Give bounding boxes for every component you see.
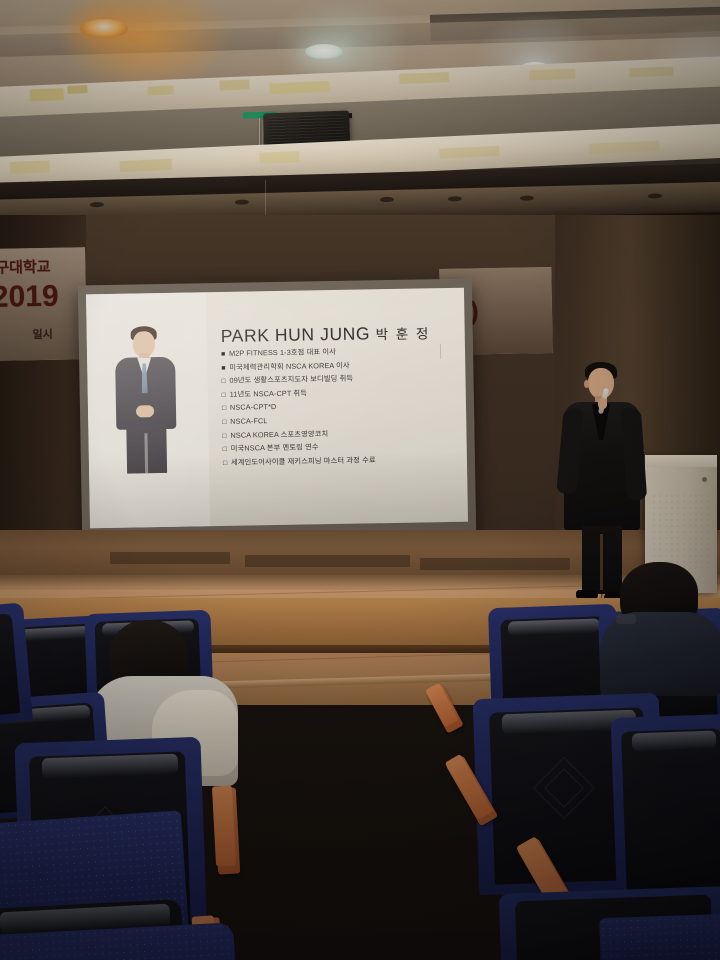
bullet-text: 미국체력관리학회 NSCA KOREA 이사 [229, 360, 350, 371]
slide-text-block: PARK HUN JUNG 박 훈 정 ■M2P FITNESS 1-3호점 대… [206, 288, 468, 526]
bullet-text: 세계인도어사이클 재키스피닝 마스터 과정 수료 [231, 455, 376, 467]
photo-hands [136, 405, 154, 417]
presenter-ear [584, 380, 589, 388]
audience-seating [0, 600, 720, 960]
seat [0, 606, 30, 726]
presenter-head [588, 368, 614, 399]
seat-armrest-top [425, 683, 459, 728]
ceiling [0, 0, 720, 190]
bullet-marker: □ [222, 392, 230, 399]
bullet-text: NSCA-CPT*D [230, 402, 277, 412]
auditorium-photo: 구대학교 2019 일시 제) [0, 0, 720, 960]
slide-title: PARK HUN JUNG 박 훈 정 [221, 322, 457, 347]
projection-screen-frame: PARK HUN JUNG 박 훈 정 ■M2P FITNESS 1-3호점 대… [78, 279, 476, 538]
bullet-marker: ■ [221, 351, 229, 358]
attendee-glasses-icon [616, 614, 636, 624]
list-item: □NSCA KOREA 스포츠영양코치 [222, 427, 458, 439]
list-item: □11년도 NSCA-CPT 취득 [222, 387, 458, 399]
bullet-text: M2P FITNESS 1-3호점 대표 이사 [229, 347, 336, 358]
bullet-text: 09년도 생활스포츠지도자 보디빌딩 취득 [229, 374, 353, 385]
slide: PARK HUN JUNG 박 훈 정 ■M2P FITNESS 1-3호점 대… [86, 288, 468, 529]
downlight-2-icon [305, 44, 343, 59]
downlight-1-icon [80, 19, 128, 38]
list-item: □09년도 생활스포츠지도자 보디빌딩 취득 [221, 373, 457, 385]
bullet-marker: □ [223, 446, 231, 453]
bullet-marker: □ [222, 419, 230, 426]
cabinet-grille [651, 493, 711, 573]
bullet-marker: □ [222, 432, 230, 439]
bullet-text: 미국NSCA 본부 멘토링 연수 [231, 442, 319, 453]
list-item: □세계인도어사이클 재키스피닝 마스터 과정 수료 [223, 455, 459, 467]
projection-screen: PARK HUN JUNG 박 훈 정 ■M2P FITNESS 1-3호점 대… [86, 288, 468, 529]
slide-title-kr: 박 훈 정 [376, 326, 431, 342]
slide-photo [86, 292, 210, 528]
slide-bullet-list: ■M2P FITNESS 1-3호점 대표 이사 ■미국체력관리학회 NSCA … [221, 346, 459, 467]
list-item: □미국NSCA 본부 멘토링 연수 [223, 441, 459, 453]
bullet-text: 11년도 NSCA-CPT 취득 [230, 388, 307, 398]
bullet-text: NSCA KOREA 스포츠영양코치 [230, 429, 328, 440]
list-item: ■M2P FITNESS 1-3호점 대표 이사 [221, 346, 457, 358]
list-item: □NSCA-FCL [222, 414, 458, 426]
bullet-text: NSCA-FCL [230, 416, 267, 426]
bullet-marker: □ [221, 378, 229, 385]
banner-left: 구대학교 2019 일시 [0, 247, 87, 361]
attendee-front-right [600, 562, 720, 692]
seat [0, 930, 240, 960]
bullet-marker: □ [223, 460, 231, 467]
list-item: ■미국체력관리학회 NSCA KOREA 이사 [221, 359, 457, 371]
seat-armrest-top [212, 786, 236, 867]
cabinet-knob [702, 477, 707, 482]
attendee-garment [600, 612, 720, 696]
seat [600, 916, 720, 960]
bullet-marker: ■ [221, 364, 229, 371]
bullet-marker: □ [222, 405, 230, 412]
list-item: □NSCA-CPT*D [222, 400, 458, 412]
banner-left-shadow [0, 247, 87, 361]
slide-title-en: PARK HUN JUNG [221, 323, 371, 346]
presenter-hand [598, 398, 607, 409]
